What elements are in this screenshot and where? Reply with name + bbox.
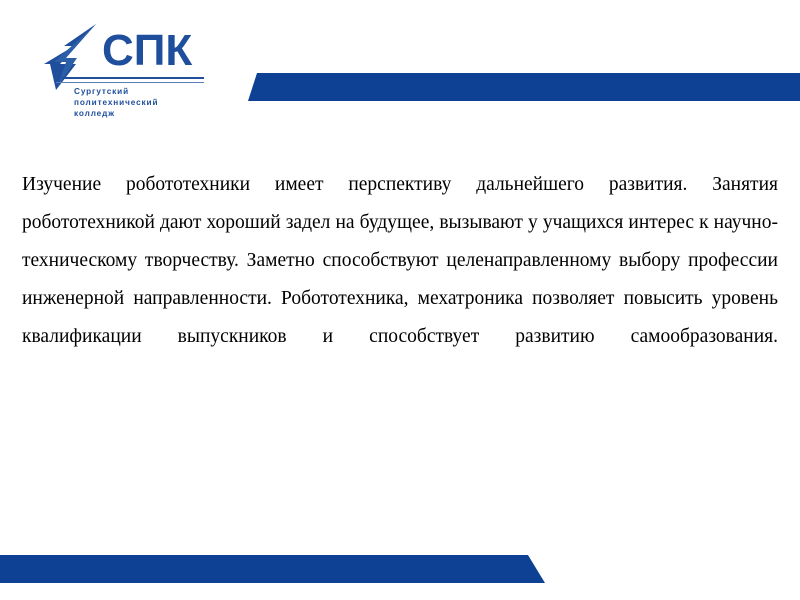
presentation-slide: СПК Сургутский политехнический колледж И… — [0, 0, 800, 600]
slide-body-paragraph: Изучение робототехники имеет перспективу… — [22, 166, 778, 356]
logo-rule-secondary — [56, 82, 204, 83]
logo-rule-primary — [62, 77, 204, 79]
bottom-accent-bar — [0, 555, 545, 583]
logo-wordmark: СПК — [102, 28, 192, 74]
logo-subtitle: Сургутский политехнический колледж — [74, 86, 158, 119]
top-accent-bar — [248, 73, 800, 101]
spk-college-logo: СПК Сургутский политехнический колледж — [44, 24, 230, 120]
